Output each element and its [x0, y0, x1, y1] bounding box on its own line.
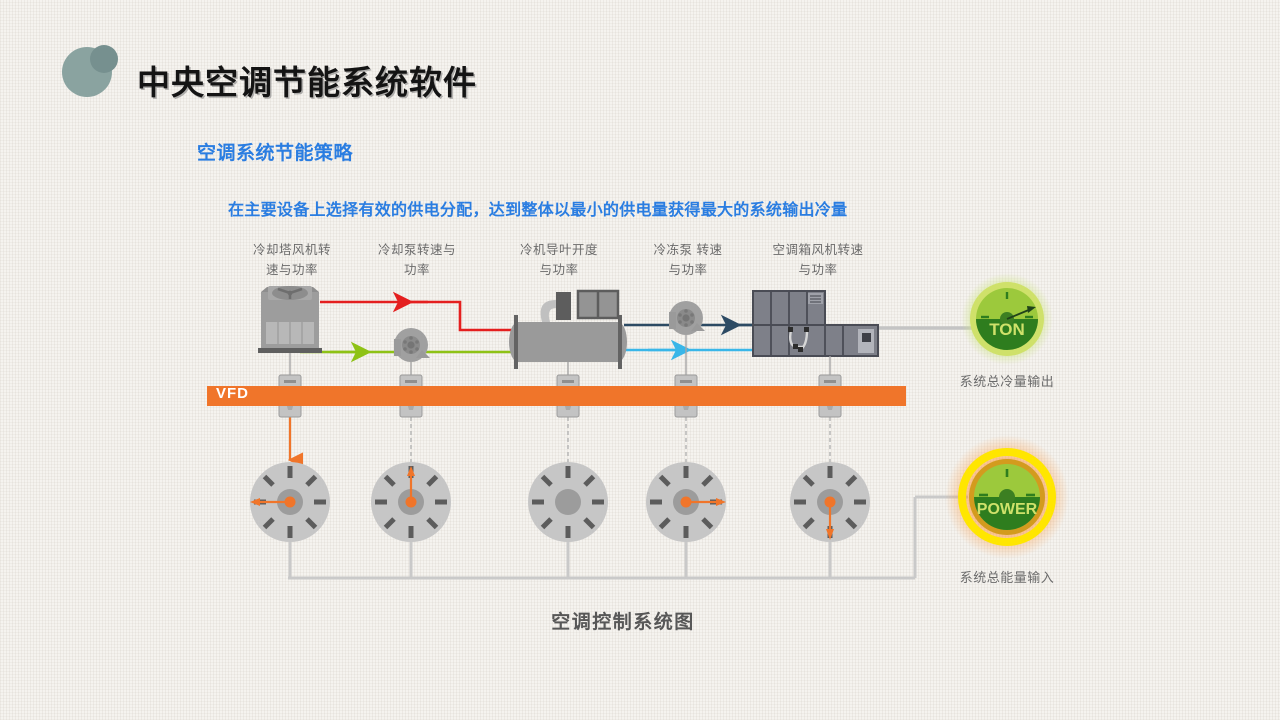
equipment-cooling-tower-icon: [258, 286, 322, 353]
section-subtitle: 在主要设备上选择有效的供电分配，达到整体以最小的供电量获得最大的系统输出冷量: [228, 196, 847, 220]
motor-dial-ahu: [790, 462, 870, 542]
equipment-label-line2: 与功率: [623, 260, 753, 280]
vfd-drop-lines: [290, 335, 830, 386]
slide-canvas: 中央空调节能系统软件 空调系统节能策略 在主要设备上选择有效的供电分配，达到整体…: [0, 0, 1280, 720]
power-bus-lines: [288, 497, 968, 578]
equipment-condenser-pump-icon: [394, 328, 430, 362]
motor-dial-condenser-pump: [371, 462, 451, 542]
equipment-label-line1: 冷冻泵 转速: [623, 240, 753, 260]
equipment-label-ahu: 空调箱风机转速 与功率: [753, 240, 883, 280]
equipment-label-chilled-pump: 冷冻泵 转速 与功率: [623, 240, 753, 280]
equipment-label-condenser-pump: 冷却泵转速与 功率: [352, 240, 482, 280]
equipment-label-line2: 与功率: [753, 260, 883, 280]
equipment-label-chiller: 冷机导叶开度 与功率: [494, 240, 624, 280]
vfd-label: VFD: [216, 385, 249, 402]
logo-circle-small-icon: [90, 45, 118, 73]
gauge-ton-caption: 系统总冷量输出: [917, 371, 1097, 390]
motor-dial-chilled-pump: [646, 462, 726, 542]
gauge-ton[interactable]: TON: [961, 273, 1053, 365]
diagram-caption: 空调控制系统图: [458, 607, 788, 634]
equipment-label-line2: 速与功率: [227, 260, 357, 280]
equipment-label-line2: 与功率: [494, 260, 624, 280]
motor-dial-chiller: [528, 462, 608, 542]
equipment-label-line1: 冷却泵转速与: [352, 240, 482, 260]
equipment-ahu-icon: [753, 291, 878, 356]
equipment-label-line1: 空调箱风机转速: [753, 240, 883, 260]
gauge-power-caption: 系统总能量输入: [917, 567, 1097, 586]
equipment-label-line2: 功率: [352, 260, 482, 280]
equipment-label-line1: 冷机导叶开度: [494, 240, 624, 260]
motor-dial-cooling-tower: [250, 462, 330, 542]
page-title: 中央空调节能系统软件: [137, 56, 477, 104]
equipment-chiller-icon: [509, 291, 627, 369]
equipment-chilled-pump-icon: [669, 301, 705, 335]
vfd-bus-bar: [207, 386, 906, 406]
pipe-condenser-return: [320, 302, 520, 330]
gauge-ton-label: TON: [989, 320, 1025, 339]
gauge-power-label: POWER: [977, 501, 1038, 518]
equipment-label-cooling-tower: 冷却塔风机转 速与功率: [227, 240, 357, 280]
equipment-label-line1: 冷却塔风机转: [227, 240, 357, 260]
gauge-power[interactable]: POWER: [945, 435, 1069, 559]
section-title: 空调系统节能策略: [197, 138, 353, 165]
